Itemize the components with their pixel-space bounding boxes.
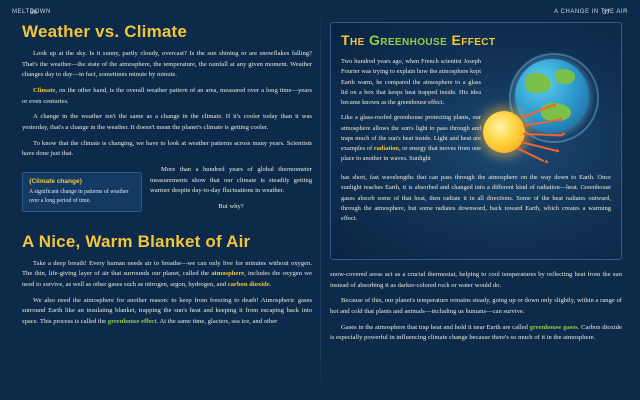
landmass-shape xyxy=(555,69,575,84)
flow-column: More than a hundred years of global ther… xyxy=(150,165,312,218)
rp-p3-a: Gases in the atmosphere that trap heat a… xyxy=(341,324,530,331)
panel-heading-greenhouse: Greenhouse xyxy=(369,32,447,48)
radiation-arrow-head xyxy=(544,159,549,164)
panel-heading-part-a: The xyxy=(341,32,369,48)
keyword-radiation: radiation xyxy=(374,145,399,152)
left-page: Weather vs. Climate Look up at the sky. … xyxy=(22,22,312,382)
para6-c: . xyxy=(270,281,272,288)
keyword-carbon-dioxide: carbon dioxide xyxy=(228,281,270,288)
paragraph-question: But why? xyxy=(150,202,312,213)
panel-heading: The Greenhouse Effect xyxy=(341,32,621,48)
landmass-shape xyxy=(525,73,551,93)
paragraph-greenhouse-effect: We also need the atmosphere for another … xyxy=(22,296,312,328)
book-spread: MELTDOWN 36 A CHANGE IN THE AIR 37 Weath… xyxy=(0,0,640,400)
panel-full-width-column: has short, fast wavelengths that can pas… xyxy=(341,173,611,229)
sun-icon xyxy=(483,111,525,153)
page-number-right: 37 xyxy=(603,9,610,16)
definition-box-climate-change: {Climate change} A significant change in… xyxy=(22,172,142,212)
radiation-arrow-head xyxy=(562,132,566,136)
running-head-right: A CHANGE IN THE AIR xyxy=(554,9,628,15)
paragraph-thermometer: More than a hundred years of global ther… xyxy=(150,165,312,197)
panel-paragraph-wavelengths: has short, fast wavelengths that can pas… xyxy=(341,173,611,224)
right-page-body: snow-covered areas act as a crucial ther… xyxy=(330,270,622,349)
greenhouse-effect-illustration xyxy=(481,53,613,173)
keyword-greenhouse-effect: greenhouse effect xyxy=(108,318,157,325)
earth-icon xyxy=(515,59,589,133)
paragraph-greenhouse-gases: Gases in the atmosphere that trap heat a… xyxy=(330,323,622,344)
heading-weather-vs-climate: Weather vs. Climate xyxy=(22,22,312,42)
right-page: The Greenhouse Effect Two hundred years … xyxy=(330,22,622,382)
keyword-atmosphere: atmosphere xyxy=(211,270,244,277)
para7-b: . At the same time, glaciers, sea ice, a… xyxy=(157,318,278,325)
panel-left-column: Two hundred years ago, when French scien… xyxy=(341,57,481,170)
panel-paragraph-radiation: Like a glass-roofed greenhouse protectin… xyxy=(341,113,481,164)
radiation-arrow-head xyxy=(559,117,564,122)
paragraph-patterns: To know that the climate is changing, we… xyxy=(22,139,312,160)
panel-paragraph-fourier: Two hundred years ago, when French scien… xyxy=(341,57,481,108)
paragraph-change: A change in the weather isn't the same a… xyxy=(22,112,312,133)
keyword-climate: Climate xyxy=(33,87,55,94)
radiation-ray xyxy=(517,147,545,162)
paragraph-atmosphere: Take a deep breath! Every human needs ai… xyxy=(22,259,312,291)
keyword-greenhouse-gases: greenhouse gases xyxy=(530,324,578,331)
sidebar-panel-greenhouse-effect: The Greenhouse Effect Two hundred years … xyxy=(330,22,622,260)
paragraph-steady-temperature: Because of this, our planet's temperatur… xyxy=(330,296,622,317)
paragraph-snow-thermostat: snow-covered areas act as a crucial ther… xyxy=(330,270,622,291)
paragraph-climate: Climate, on the other hand, is the overa… xyxy=(22,86,312,107)
paragraph-weather: Look up at the sky. Is it sunny, partly … xyxy=(22,49,312,81)
page-number-left: 36 xyxy=(30,9,37,16)
definition-term: {Climate change} xyxy=(29,178,135,185)
radiation-arrow-head xyxy=(556,149,561,154)
heading-warm-blanket: A Nice, Warm Blanket of Air xyxy=(22,232,312,252)
page-gutter xyxy=(320,0,321,400)
definition-and-flow-row: {Climate change} A significant change in… xyxy=(22,165,312,218)
definition-text: A significant change in patterns of weat… xyxy=(29,188,135,205)
paragraph-climate-rest: , on the other hand, is the overall weat… xyxy=(22,87,312,105)
panel-heading-part-b: Effect xyxy=(447,32,495,48)
